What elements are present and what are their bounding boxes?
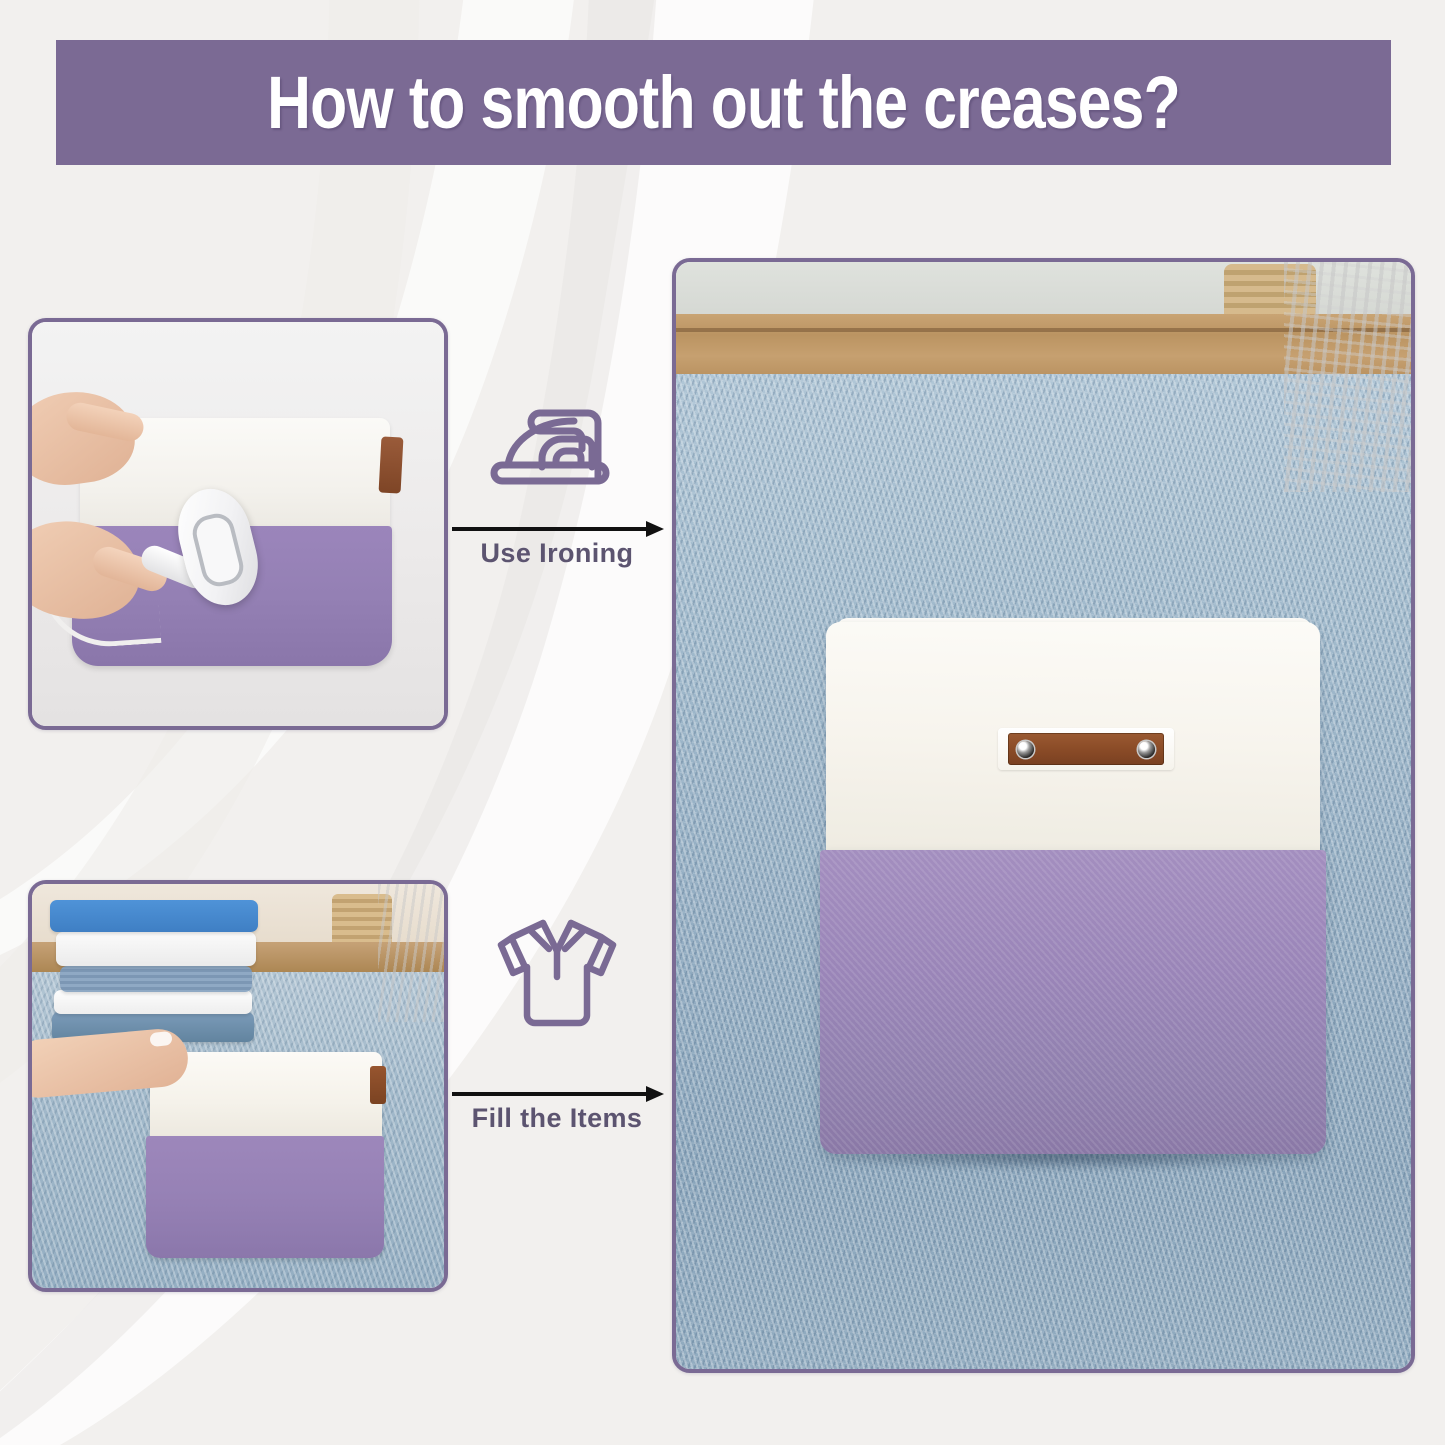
folded-clothes-item	[60, 966, 252, 992]
filling-basket-photo	[28, 880, 448, 1292]
header-banner: How to smooth out the creases?	[56, 40, 1391, 165]
step-fill-the-items	[441, 918, 673, 1036]
basket-purple-body	[146, 1136, 384, 1258]
arrow-to-result-2	[450, 1083, 665, 1105]
step-label-use-ironing: Use Ironing	[441, 538, 673, 569]
folded-clothes-item	[50, 900, 258, 932]
folded-clothes-item	[54, 990, 252, 1014]
basket-purple-body	[820, 850, 1326, 1154]
arrow-to-result-1	[450, 518, 665, 540]
basket-leather-handle	[379, 436, 404, 493]
step-label-fill-the-items: Fill the Items	[441, 1103, 673, 1134]
step-use-ironing	[441, 392, 673, 510]
handle-grommet-left	[1017, 741, 1034, 758]
white-curtain	[378, 884, 444, 1022]
page-title: How to smooth out the creases?	[267, 60, 1180, 145]
polo-shirt-icon	[441, 918, 673, 1036]
handle-grommet-right	[1138, 741, 1155, 758]
basket-leather-handle	[370, 1066, 386, 1104]
white-curtain	[1284, 262, 1411, 492]
steaming-basket-photo	[28, 318, 448, 730]
clothes-iron-icon	[441, 392, 673, 510]
folded-clothes-item	[56, 932, 256, 966]
storage-basket-hero-photo	[672, 258, 1415, 1373]
